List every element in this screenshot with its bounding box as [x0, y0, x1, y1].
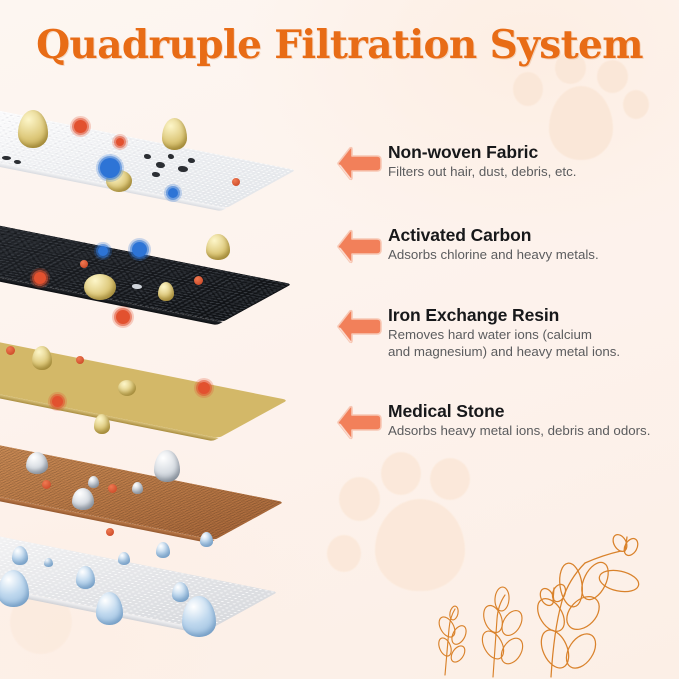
clean-water-droplet	[12, 546, 28, 565]
botanical-decoration	[423, 489, 673, 679]
red-particle	[232, 178, 240, 186]
feature-row: Iron Exchange Resin Removes hard water i…	[336, 305, 679, 360]
feature-row: Non-woven Fabric Filters out hair, dust,…	[336, 142, 679, 181]
left-arrow-icon	[336, 225, 388, 264]
feature-heading: Medical Stone	[388, 401, 679, 421]
golden-droplet	[162, 118, 187, 150]
filter-stack-illustration	[0, 96, 336, 656]
sprig-medium	[478, 587, 527, 677]
page-title: Quadruple Filtration System	[0, 22, 679, 68]
golden-droplet	[18, 110, 48, 148]
red-particle	[6, 346, 15, 355]
clean-water-droplet	[76, 566, 95, 589]
stone-droplet	[72, 488, 94, 510]
red-particle	[42, 480, 51, 489]
red-virus	[34, 272, 46, 284]
feature-row: Activated Carbon Adsorbs chlorine and he…	[336, 225, 679, 264]
red-particle	[108, 484, 117, 493]
feature-description: Adsorbs chlorine and heavy metals.	[388, 247, 679, 264]
red-virus	[52, 396, 63, 407]
blue-virus	[98, 246, 108, 256]
clean-water-droplet	[172, 582, 189, 602]
sprig-small	[436, 605, 469, 675]
left-arrow-icon	[336, 401, 388, 440]
red-virus	[74, 120, 87, 133]
filtration-infographic: Quadruple Filtration System	[0, 0, 679, 679]
golden-droplet	[158, 282, 174, 301]
red-virus	[116, 138, 124, 146]
stone-droplet	[88, 476, 99, 488]
blue-virus	[100, 158, 120, 178]
feature-heading: Activated Carbon	[388, 225, 679, 245]
red-particle	[194, 276, 203, 285]
feature-description: Removes hard water ions (calcium and mag…	[388, 327, 679, 360]
red-particle	[76, 356, 84, 364]
red-virus	[116, 310, 130, 324]
activated-carbon-layer	[0, 224, 292, 344]
golden-droplet	[94, 414, 110, 434]
dust-grit	[188, 158, 195, 163]
feature-description: Filters out hair, dust, debris, etc.	[388, 164, 679, 181]
clean-water-droplet	[200, 532, 213, 547]
dust-grit	[14, 160, 21, 164]
paw-print-top-right	[497, 66, 647, 206]
feature-row: Medical Stone Adsorbs heavy metal ions, …	[336, 401, 679, 440]
dust-grit	[156, 162, 165, 168]
dust-grit	[152, 172, 160, 177]
feature-description: Adsorbs heavy metal ions, debris and odo…	[388, 423, 679, 440]
golden-droplet	[84, 274, 116, 300]
blue-virus	[168, 188, 178, 198]
golden-droplet	[118, 380, 136, 396]
dust-grit	[2, 156, 11, 160]
golden-droplet	[32, 346, 52, 370]
clean-water-droplet	[118, 552, 130, 565]
red-particle	[80, 260, 88, 268]
left-arrow-icon	[336, 305, 388, 344]
stone-droplet	[26, 452, 48, 474]
sprig-large	[532, 532, 641, 677]
red-virus	[198, 382, 210, 394]
stone-droplet	[154, 450, 180, 482]
feature-heading: Non-woven Fabric	[388, 142, 679, 162]
stone-droplet	[132, 482, 143, 494]
clean-water-droplet	[44, 558, 53, 567]
dust-grit	[178, 166, 188, 172]
feature-heading: Iron Exchange Resin	[388, 305, 679, 325]
dust-grit	[132, 284, 142, 289]
golden-droplet	[206, 234, 230, 260]
dust-grit	[168, 154, 174, 159]
blue-virus	[132, 242, 147, 257]
left-arrow-icon	[336, 142, 388, 181]
dust-grit	[144, 154, 151, 159]
base-filter-layer	[0, 532, 278, 652]
clean-water-droplet	[156, 542, 170, 558]
non-woven-fabric-layer	[0, 110, 296, 230]
